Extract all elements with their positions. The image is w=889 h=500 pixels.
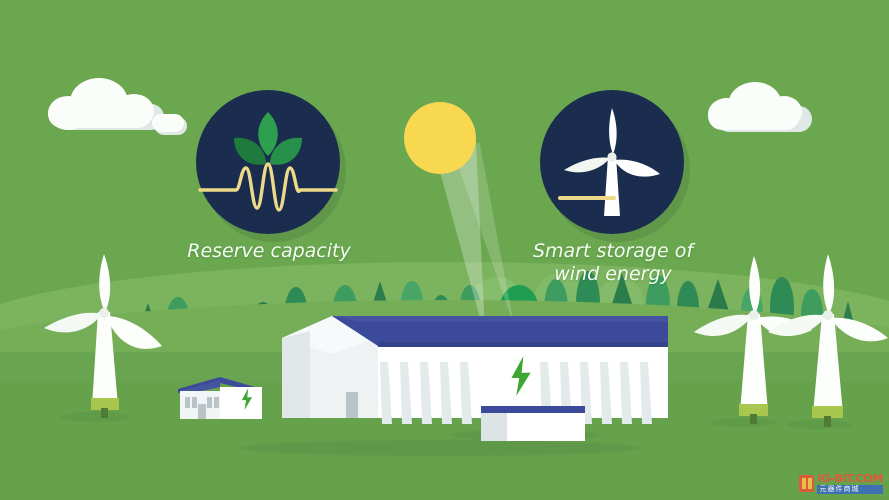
annex-side-wall	[481, 413, 507, 441]
ig-bit-watermark: IG-BIT.COM 元器件商城	[799, 473, 883, 494]
badge-reserve-capacity-label: Reserve capacity	[174, 240, 364, 263]
cloud-small-left	[152, 114, 186, 134]
wind-turbine-right-outer-graphic	[766, 250, 889, 428]
small-house	[174, 373, 266, 421]
cloud-right	[708, 82, 808, 132]
sun-icon	[404, 102, 476, 174]
waveform-icon	[196, 90, 340, 234]
badge-reserve-capacity[interactable]: Reserve capacity	[196, 90, 346, 242]
watermark-site-name: IG-BIT.COM	[817, 473, 883, 484]
wind-turbine-icon	[540, 90, 684, 234]
badge-smart-storage[interactable]: Smart storage of wind energy	[540, 90, 690, 242]
annex-front-wall	[507, 413, 585, 441]
cloud-large-left	[48, 78, 160, 130]
watermark-logo-icon	[799, 475, 814, 492]
badge-smart-storage-label: Smart storage of wind energy	[518, 240, 708, 286]
warehouse-ground-shadow	[240, 440, 640, 456]
wind-turbine-left-graphic	[40, 250, 170, 422]
illustration-scene: Reserve capacity Smart storage of wind e…	[0, 0, 889, 500]
annex-roof	[481, 406, 585, 413]
watermark-subtitle: 元器件商城	[817, 485, 883, 494]
